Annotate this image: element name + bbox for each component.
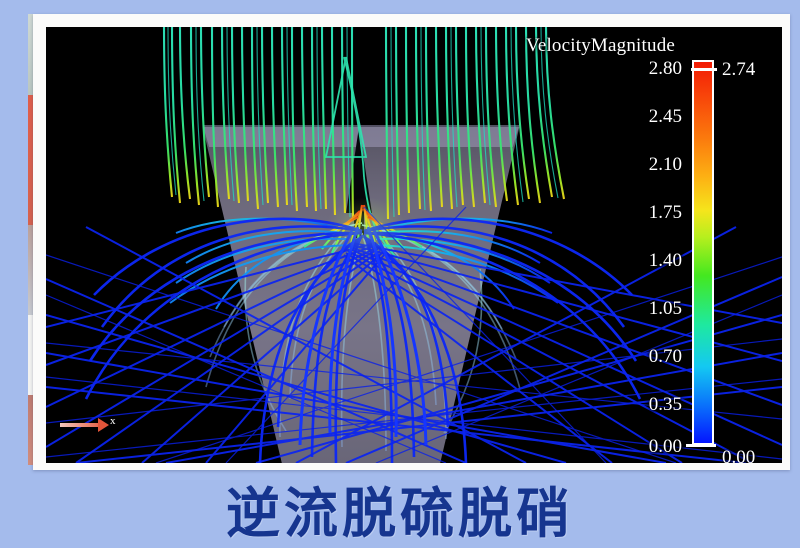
colorbar-tick-label-6: 0.70 <box>618 346 682 368</box>
colorbar-max-tick <box>691 68 717 71</box>
nozzle-glow <box>326 197 406 257</box>
orientation-axes-widget[interactable]: x <box>60 413 126 437</box>
x-axis-label: x <box>110 415 116 427</box>
x-axis-arrowhead-icon <box>98 418 109 432</box>
slide-root: VelocityMagnitude 2.74 0.00 2.80 2.45 2.… <box>0 0 800 542</box>
legend-title: VelocityMagnitude <box>526 35 675 57</box>
colorbar-tick-label-2: 2.10 <box>618 154 682 176</box>
colorbar-max-value: 2.74 <box>722 59 755 81</box>
colorbar-tick-label-7: 0.35 <box>618 394 682 416</box>
colorbar-tick-label-0: 2.80 <box>618 58 682 80</box>
cfd-viewport[interactable]: VelocityMagnitude 2.74 0.00 2.80 2.45 2.… <box>46 27 782 463</box>
image-frame: VelocityMagnitude 2.74 0.00 2.80 2.45 2.… <box>33 14 790 470</box>
colorbar-tick-label-8: 0.00 <box>618 436 682 458</box>
colorbar-min-value: 0.00 <box>722 447 755 463</box>
colorbar-tick-label-1: 2.45 <box>618 106 682 128</box>
colorbar-tick-label-5: 1.05 <box>618 298 682 320</box>
colorbar-min-tick <box>686 444 716 447</box>
colorbar[interactable] <box>692 60 714 445</box>
inlet-streamlines <box>164 27 564 219</box>
colorbar-gradient <box>692 60 714 445</box>
slide-caption: 逆流脱硫脱硝 <box>0 474 800 542</box>
colorbar-tick-label-4: 1.40 <box>618 250 682 272</box>
colorbar-tick-label-3: 1.75 <box>618 202 682 224</box>
